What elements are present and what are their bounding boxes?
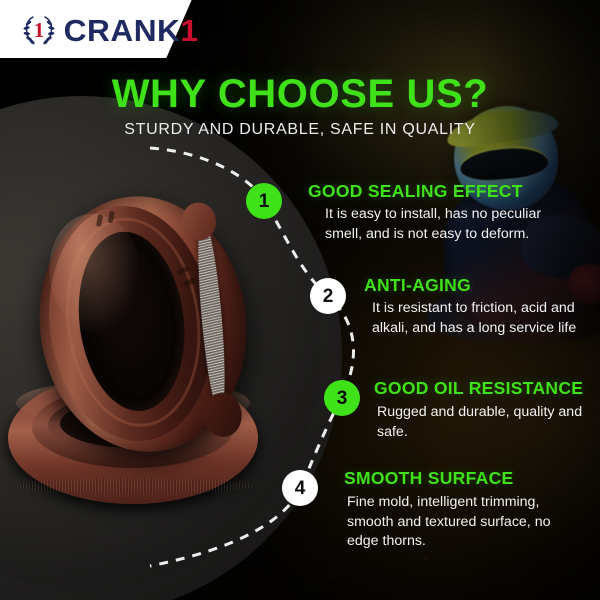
logo-wordmark-accent: 1 — [180, 13, 198, 48]
feature-title-4: SMOOTH SURFACE — [344, 470, 513, 488]
feature-number-4: 4 — [295, 479, 306, 498]
logo-wordmark-main: CRANK — [64, 13, 181, 48]
feature-badge-2[interactable]: 2 — [310, 278, 346, 314]
feature-number-1: 1 — [259, 192, 270, 211]
logo-number: 1 — [20, 12, 58, 48]
feature-body-3: Rugged and durable, quality and safe. — [377, 403, 592, 442]
feature-body-4: Fine mold, intelligent trimming, smooth … — [347, 493, 579, 552]
poster-canvas: 1 CRANK1 WHY CHOOSE US? STURDY AND DURAB… — [0, 0, 600, 600]
feature-title-3: GOOD OIL RESISTANCE — [374, 380, 583, 398]
feature-body-1: It is easy to install, has no peculiar s… — [325, 205, 567, 244]
feature-badge-3[interactable]: 3 — [324, 380, 360, 416]
feature-number-3: 3 — [337, 389, 348, 408]
feature-badge-4[interactable]: 4 — [282, 470, 318, 506]
feature-badge-1[interactable]: 1 — [246, 183, 282, 219]
flat-seal-knurl-texture — [14, 478, 252, 494]
feature-body-2: It is resistant to friction, acid and al… — [372, 299, 590, 338]
page-subheadline: STURDY AND DURABLE, SAFE IN QUALITY — [0, 122, 600, 138]
laurel-wreath-icon: 1 — [20, 12, 58, 48]
feature-title-2: ANTI-AGING — [364, 277, 471, 295]
feature-title-1: GOOD SEALING EFFECT — [308, 183, 523, 201]
page-headline: WHY CHOOSE US? — [0, 74, 600, 114]
brand-logo[interactable]: 1 CRANK1 — [20, 12, 197, 48]
feature-number-2: 2 — [323, 287, 334, 306]
oil-seal-upright — [25, 184, 261, 463]
product-image-oil-seals — [6, 196, 268, 526]
logo-wordmark: CRANK1 — [64, 15, 199, 46]
